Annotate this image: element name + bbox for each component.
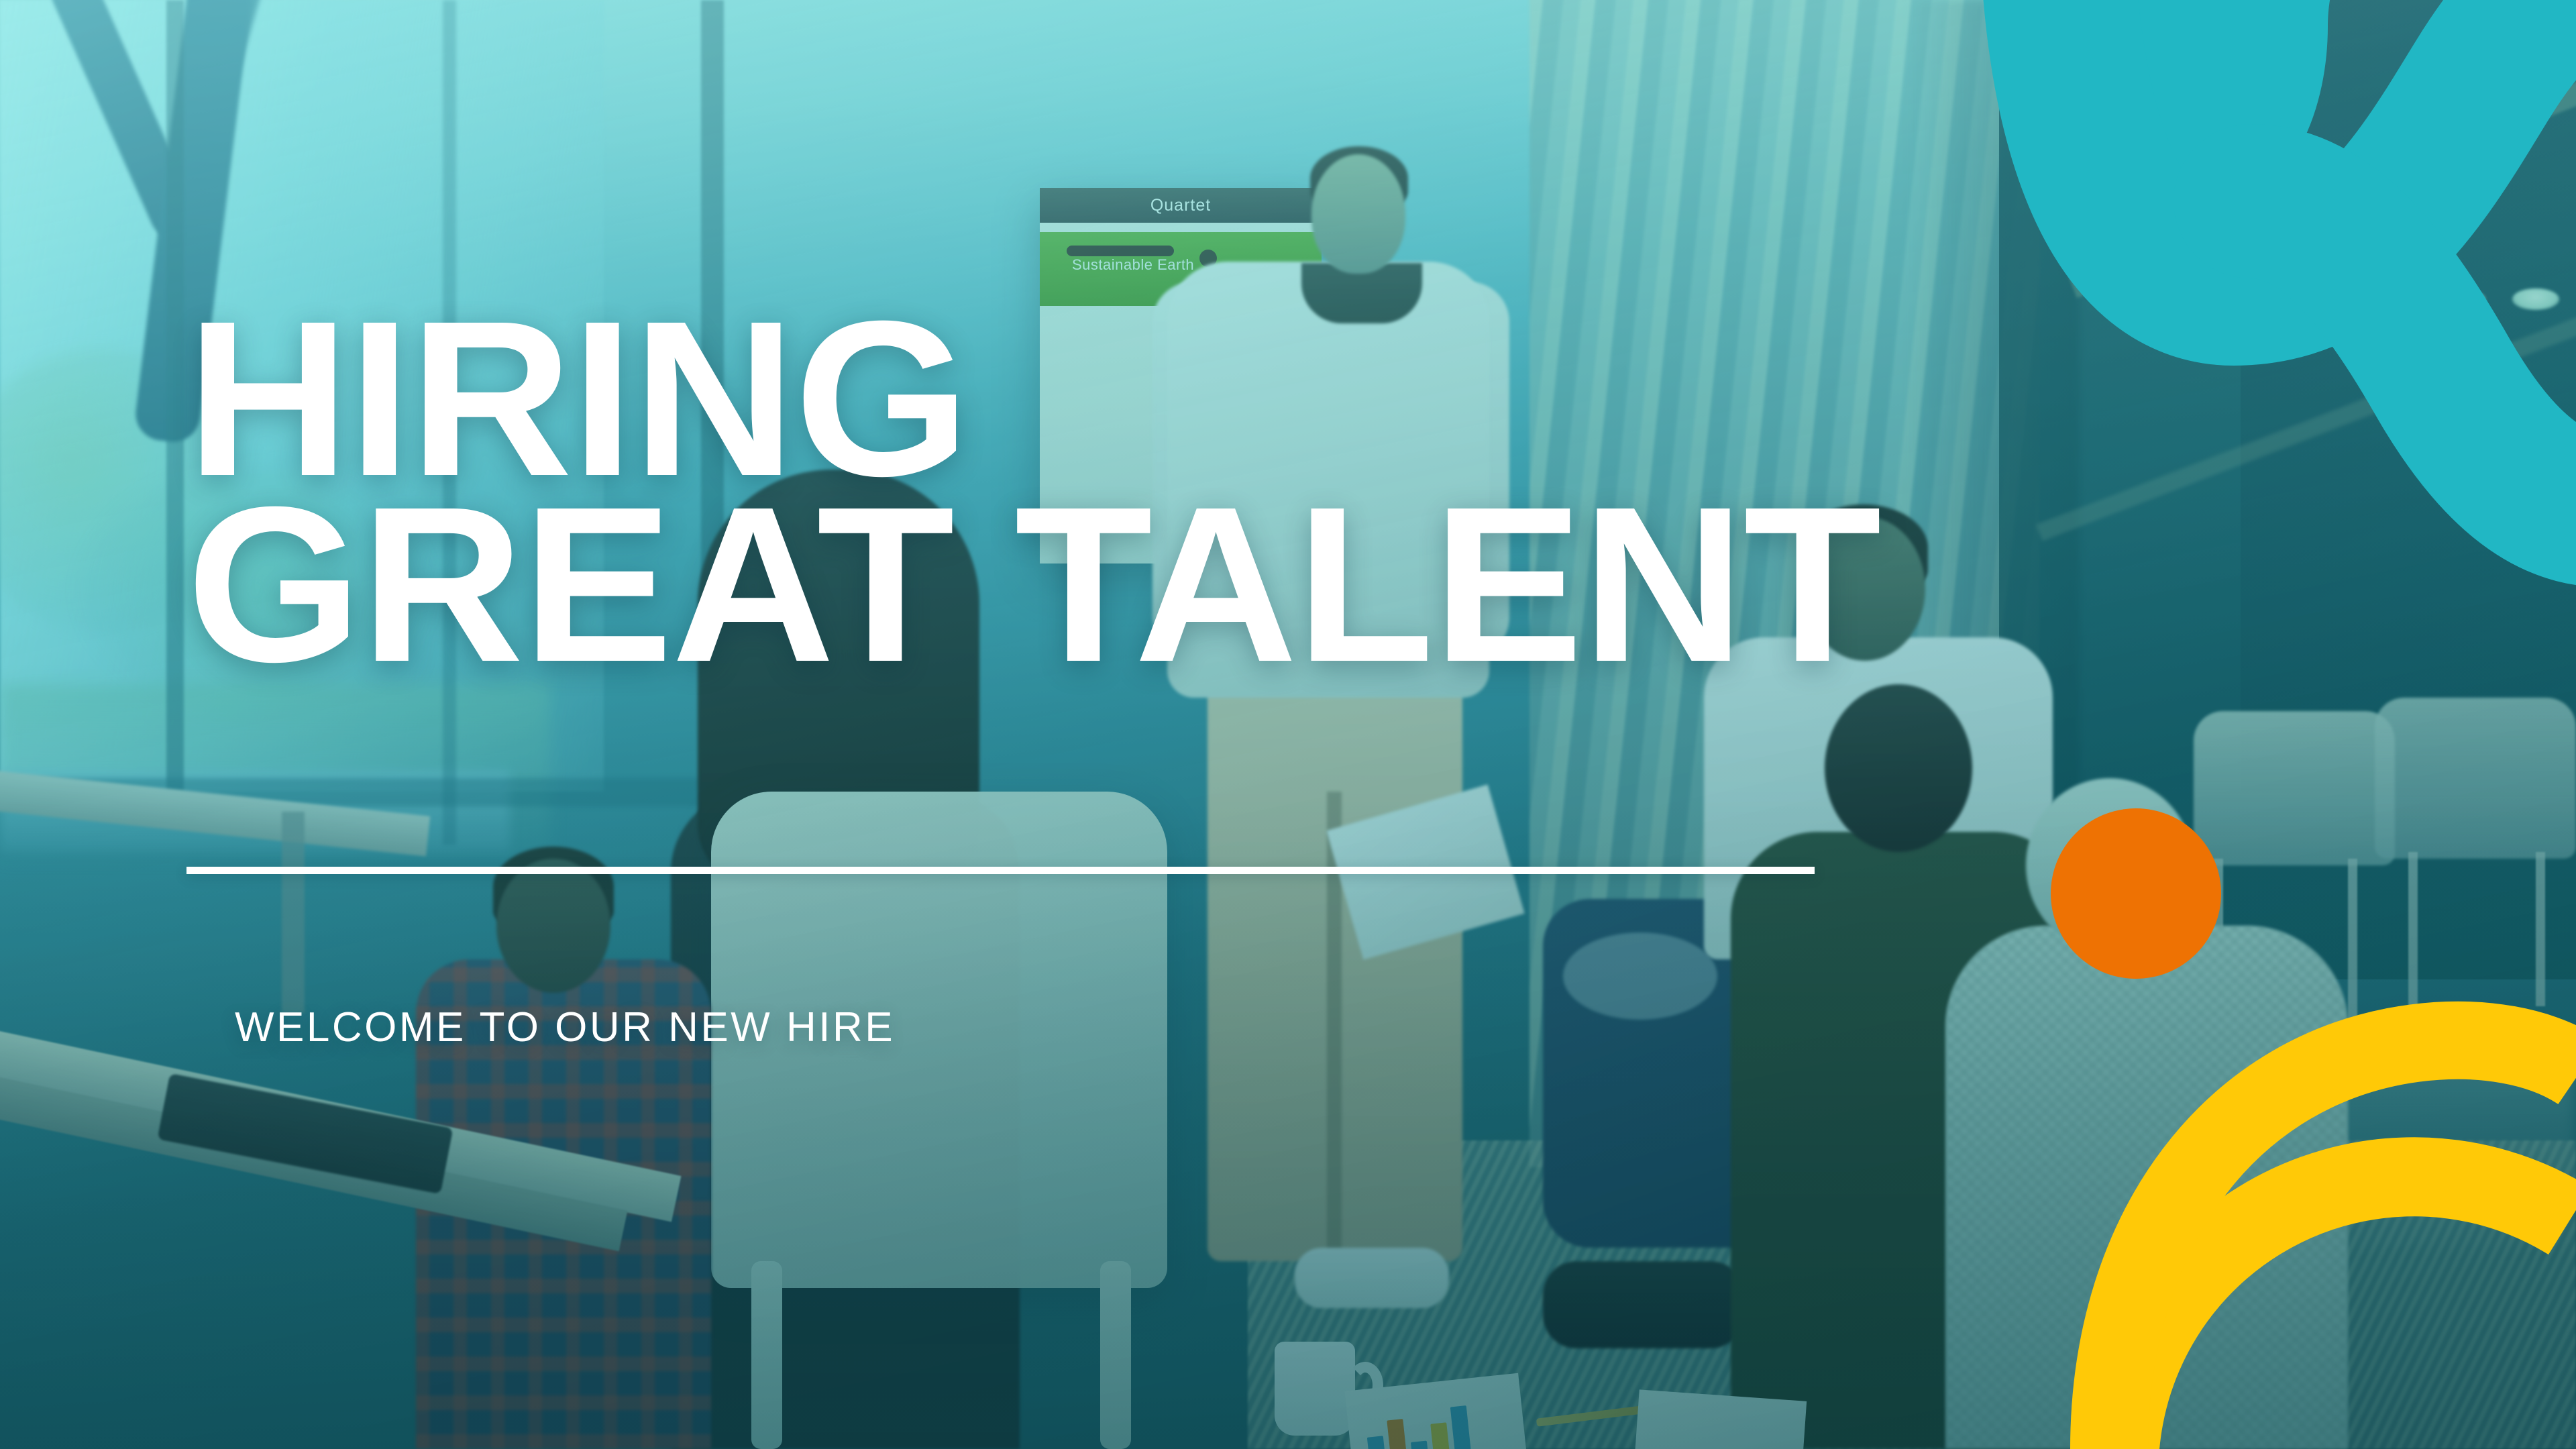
poster-copy: HIRING GREAT TALENT WELCOME TO OUR NEW H…: [0, 0, 2576, 1449]
headline-line-2: GREAT TALENT: [186, 491, 1880, 677]
page-title: HIRING GREAT TALENT: [186, 305, 1880, 677]
subtitle: WELCOME TO OUR NEW HIRE: [235, 1004, 895, 1051]
divider-rule: [186, 867, 1815, 874]
hiring-poster: Quartet Sustainable Earth: [0, 0, 2576, 1449]
